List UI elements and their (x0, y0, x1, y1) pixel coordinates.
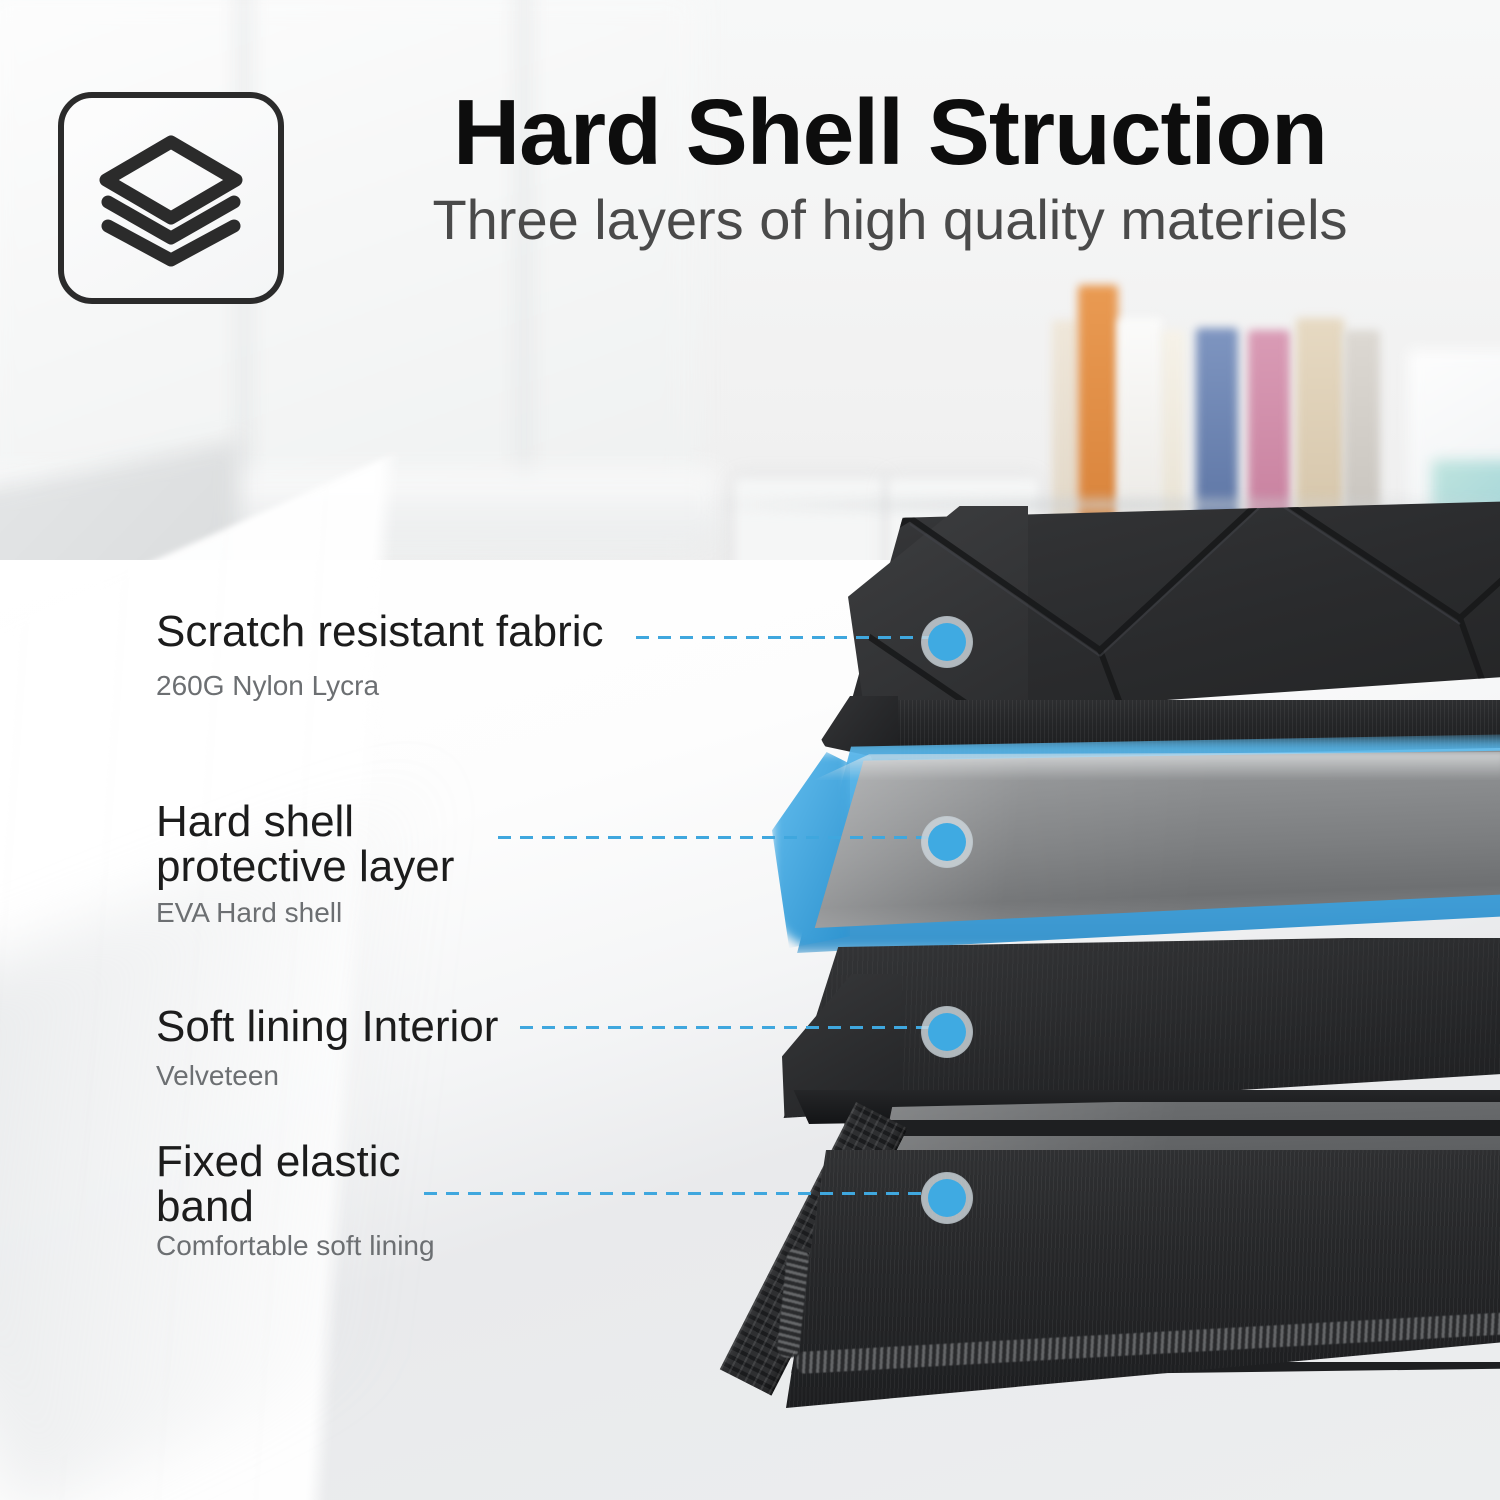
callout-subtitle-hard-shell-protective-layer: EVA Hard shell (156, 897, 342, 929)
callout-subtitle-fixed-elastic-band: Comfortable soft lining (156, 1230, 435, 1262)
callout-title-soft-lining-interior: Soft lining Interior (156, 1005, 498, 1050)
callout-dot-2 (928, 823, 966, 861)
callout-line-4 (424, 1192, 936, 1195)
callout-group: Scratch resistant fabric 260G Nylon Lycr… (0, 0, 1500, 1500)
callout-title-scratch-resistant-fabric: Scratch resistant fabric (156, 610, 604, 655)
product-feature-banner: Hard Shell Struction Three layers of hig… (0, 0, 1500, 1500)
callout-line-1 (636, 636, 936, 639)
callout-dot-4 (928, 1179, 966, 1217)
callout-line-2 (498, 836, 936, 839)
callout-title-fixed-elastic-band: Fixed elastic band (156, 1140, 401, 1230)
callout-dot-3 (928, 1013, 966, 1051)
callout-line-3 (520, 1026, 936, 1029)
callout-subtitle-soft-lining-interior: Velveteen (156, 1060, 279, 1092)
callout-title-hard-shell-protective-layer: Hard shell protective layer (156, 800, 454, 890)
callout-subtitle-scratch-resistant-fabric: 260G Nylon Lycra (156, 670, 379, 702)
callout-dot-1 (928, 623, 966, 661)
